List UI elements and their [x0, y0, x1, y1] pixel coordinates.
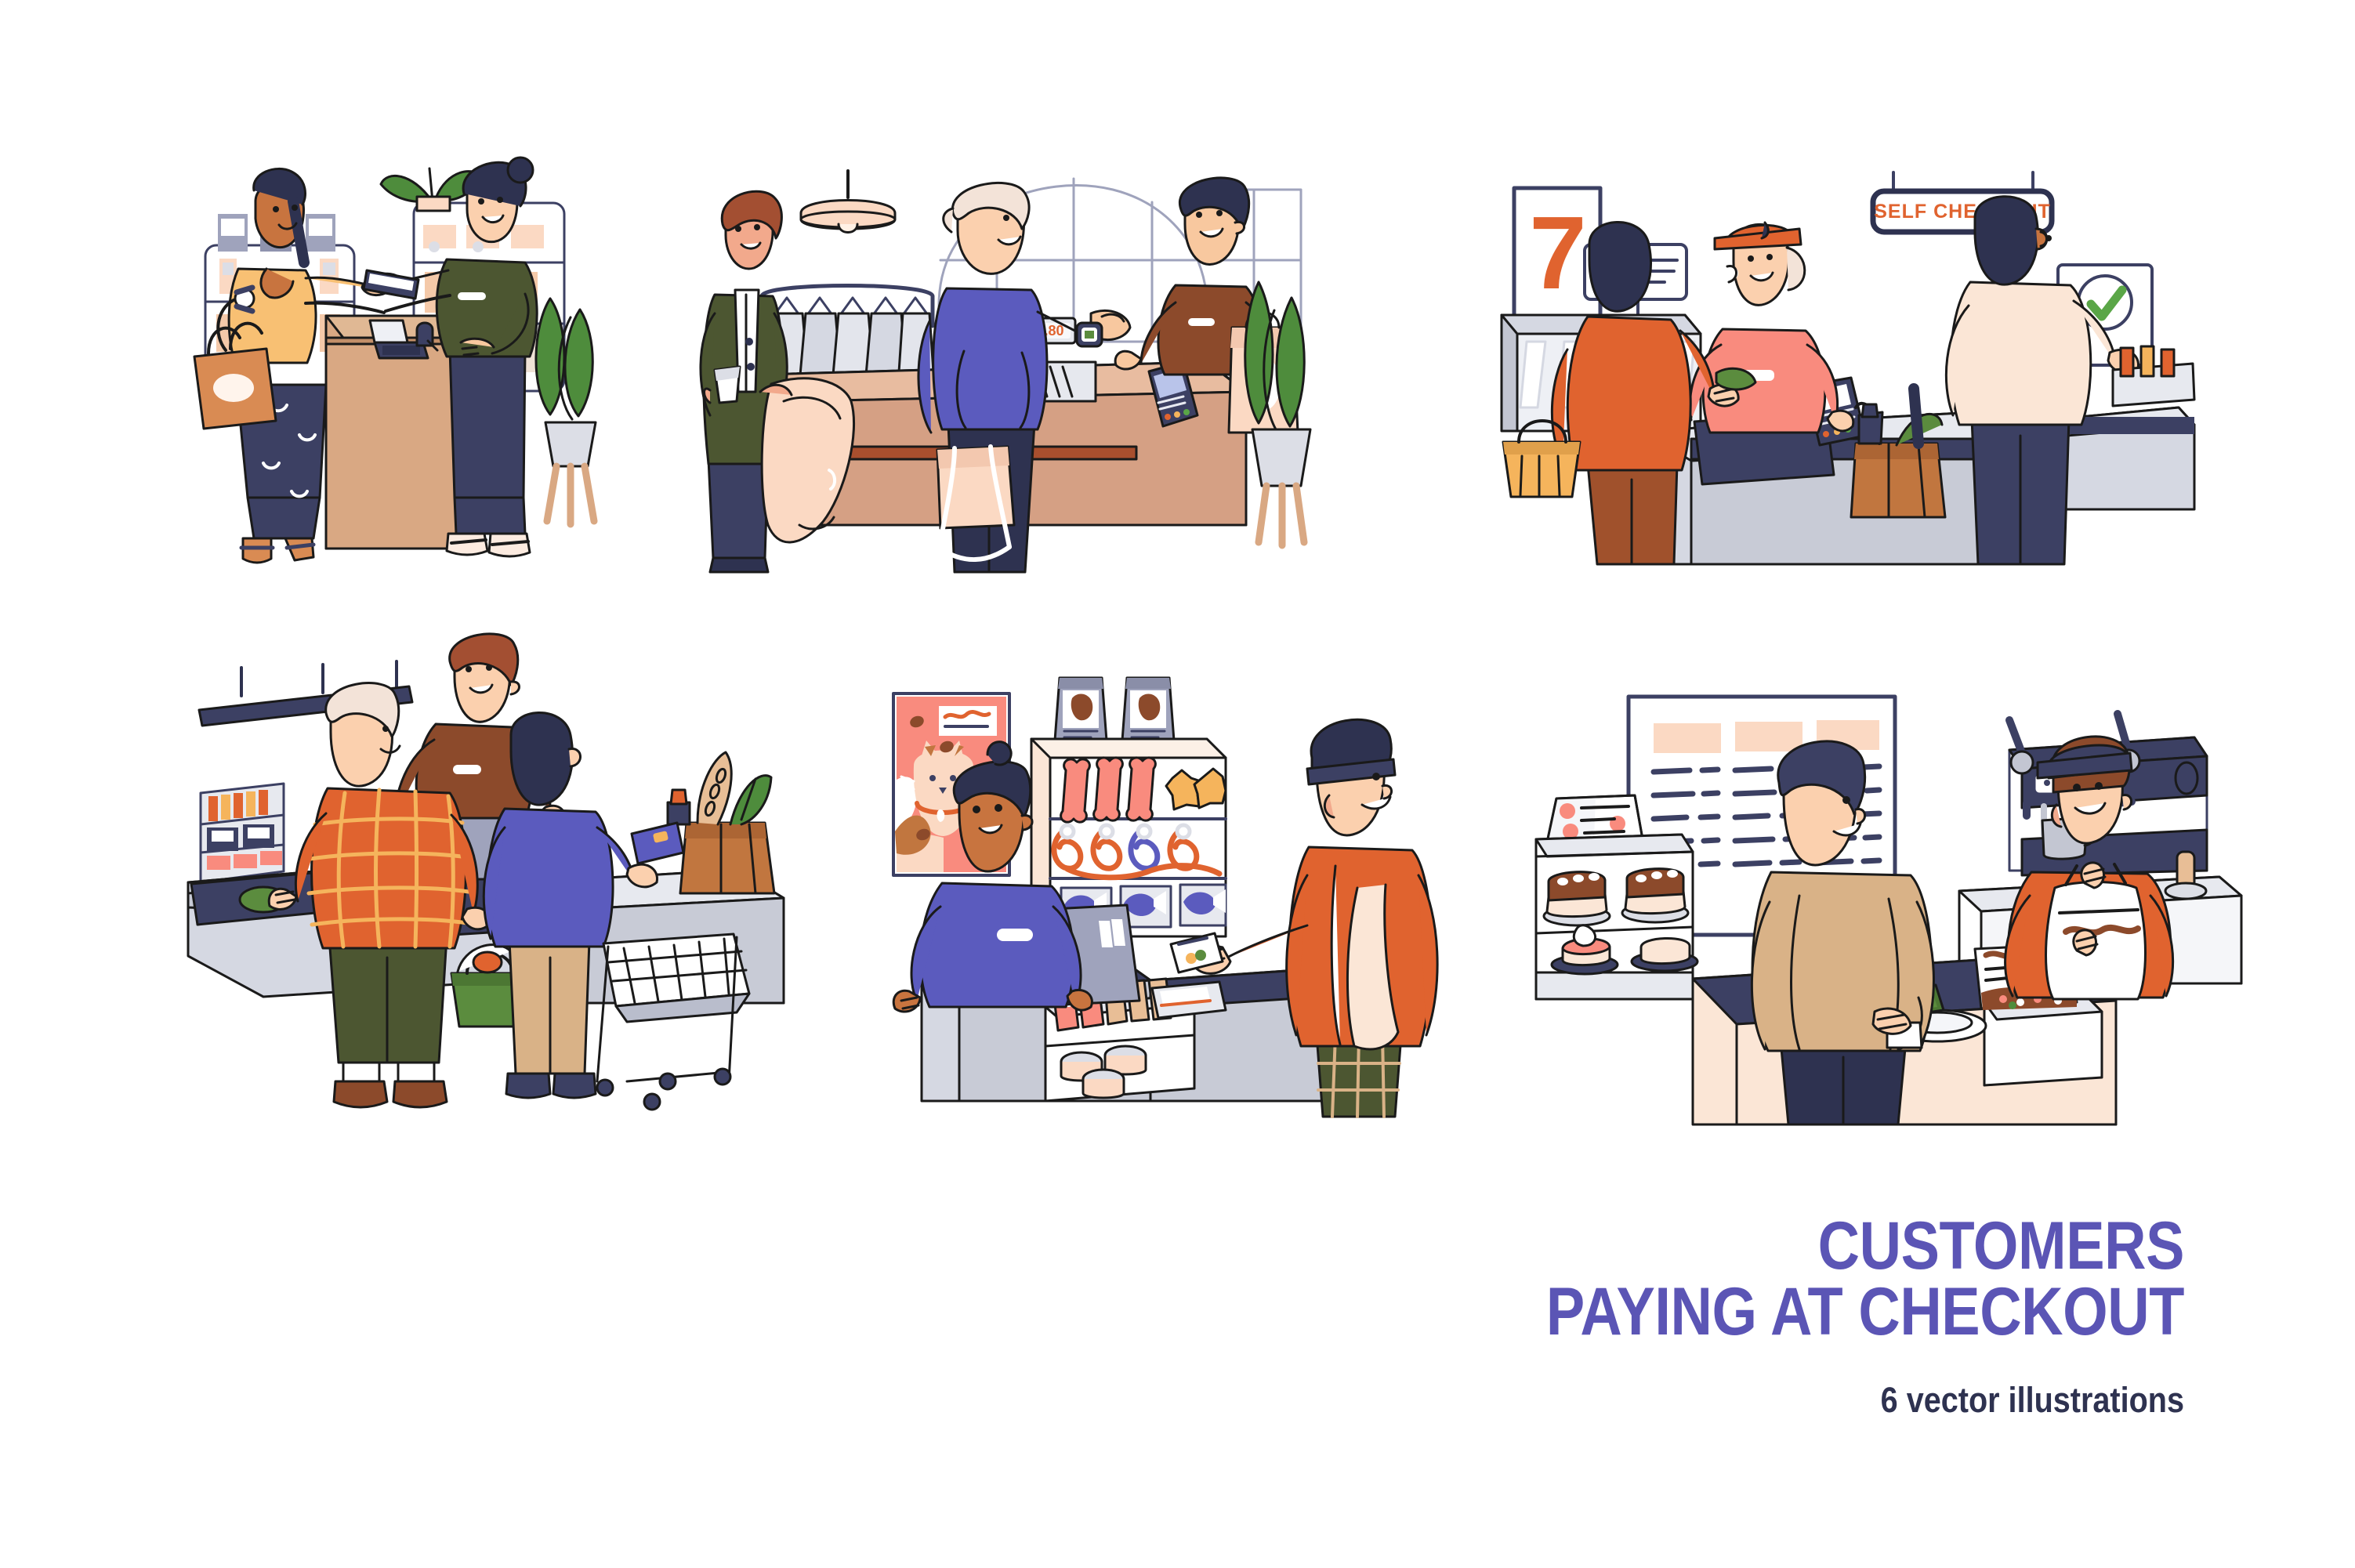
- pastry-display-case: [1536, 835, 1697, 999]
- illustration-grocery-conveyor: [188, 658, 846, 1113]
- title-block: CUSTOMERS PAYING AT CHECKOUT 6 vector il…: [1259, 1213, 2184, 1421]
- impulse-buy-rack: [201, 784, 284, 882]
- cash-register: [370, 320, 437, 358]
- pendant-lamp: [801, 171, 895, 233]
- illustration-clothing-store: 45.80: [705, 157, 1317, 572]
- title-line-2: PAYING AT CHECKOUT: [1389, 1279, 2184, 1345]
- illustration-pet-shop: [878, 678, 1458, 1117]
- lane-number: 7: [1529, 195, 1586, 310]
- card-terminal: [1152, 982, 1226, 1018]
- illustration-bakery-cafe: [1536, 686, 2241, 1124]
- grocery-paper-bag: [668, 752, 774, 893]
- shopping-trolley: [597, 934, 749, 1110]
- title-line-1: CUSTOMERS: [1389, 1213, 2184, 1279]
- bank-card: [632, 823, 683, 864]
- grocery-paper-bag: [1851, 389, 1945, 517]
- potted-plant-right: [536, 299, 596, 524]
- side-shelf: [2113, 346, 2194, 406]
- dog-food-bags: [1055, 678, 1174, 741]
- illustration-set-page: 45.80: [0, 0, 2355, 1568]
- illustration-supermarket-self-checkout: 7 SELF CHECKO: [1489, 172, 2194, 580]
- subtitle: 6 vector illustrations: [1371, 1380, 2184, 1421]
- illustration-cosmetics-store: [188, 153, 596, 580]
